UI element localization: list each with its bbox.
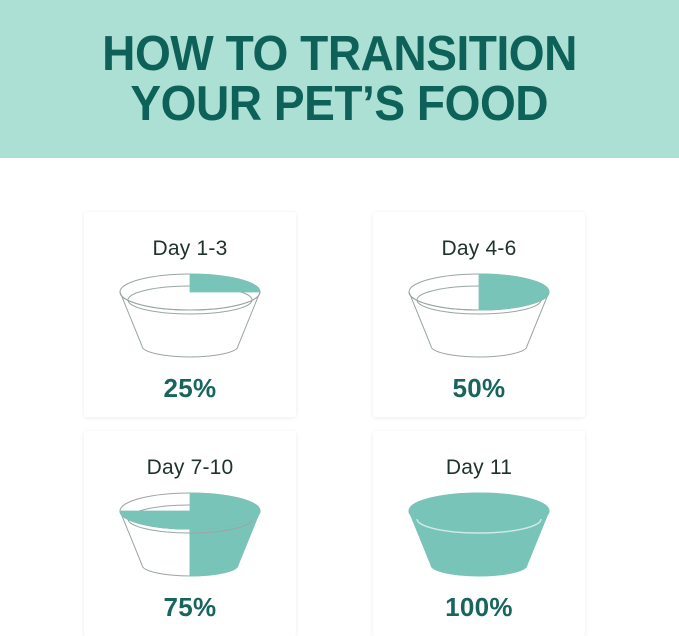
- transition-step-grid: Day 1-3 25% Day 4-6 50% Day 7-10 75% Day…: [84, 212, 585, 636]
- header-title-line-1: HOW TO TRANSITION: [102, 29, 577, 79]
- header-title-line-2: YOUR PET’S FOOD: [131, 79, 549, 129]
- pet-bowl-icon: [403, 270, 555, 362]
- infographic-page: HOW TO TRANSITION YOUR PET’S FOOD Day 1-…: [0, 0, 679, 635]
- pet-bowl-icon: [403, 489, 555, 581]
- bowl-illustration-25: [110, 268, 270, 364]
- bowl-body: [120, 292, 260, 357]
- header-banner: HOW TO TRANSITION YOUR PET’S FOOD: [0, 0, 679, 158]
- transition-card-day-11[interactable]: Day 11 100%: [373, 431, 585, 636]
- card-percent-label: 100%: [445, 592, 513, 623]
- card-percent-label: 75%: [164, 592, 217, 623]
- card-title: Day 4-6: [442, 238, 517, 260]
- transition-card-day-4-6[interactable]: Day 4-6 50%: [373, 212, 585, 417]
- card-title: Day 7-10: [147, 457, 234, 479]
- card-title: Day 11: [446, 457, 512, 479]
- bowl-illustration-50: [399, 268, 559, 364]
- bowl-fill-wedge: [409, 493, 549, 529]
- card-percent-label: 25%: [164, 373, 217, 404]
- card-title: Day 1-3: [153, 238, 228, 260]
- pet-bowl-icon: [114, 489, 266, 581]
- bowl-illustration-100: [399, 487, 559, 583]
- pet-bowl-icon: [114, 270, 266, 362]
- transition-card-day-1-3[interactable]: Day 1-3 25%: [84, 212, 296, 417]
- transition-card-day-7-10[interactable]: Day 7-10 75%: [84, 431, 296, 636]
- bowl-fill-wedge: [190, 274, 260, 292]
- card-percent-label: 50%: [453, 373, 506, 404]
- bowl-illustration-75: [110, 487, 270, 583]
